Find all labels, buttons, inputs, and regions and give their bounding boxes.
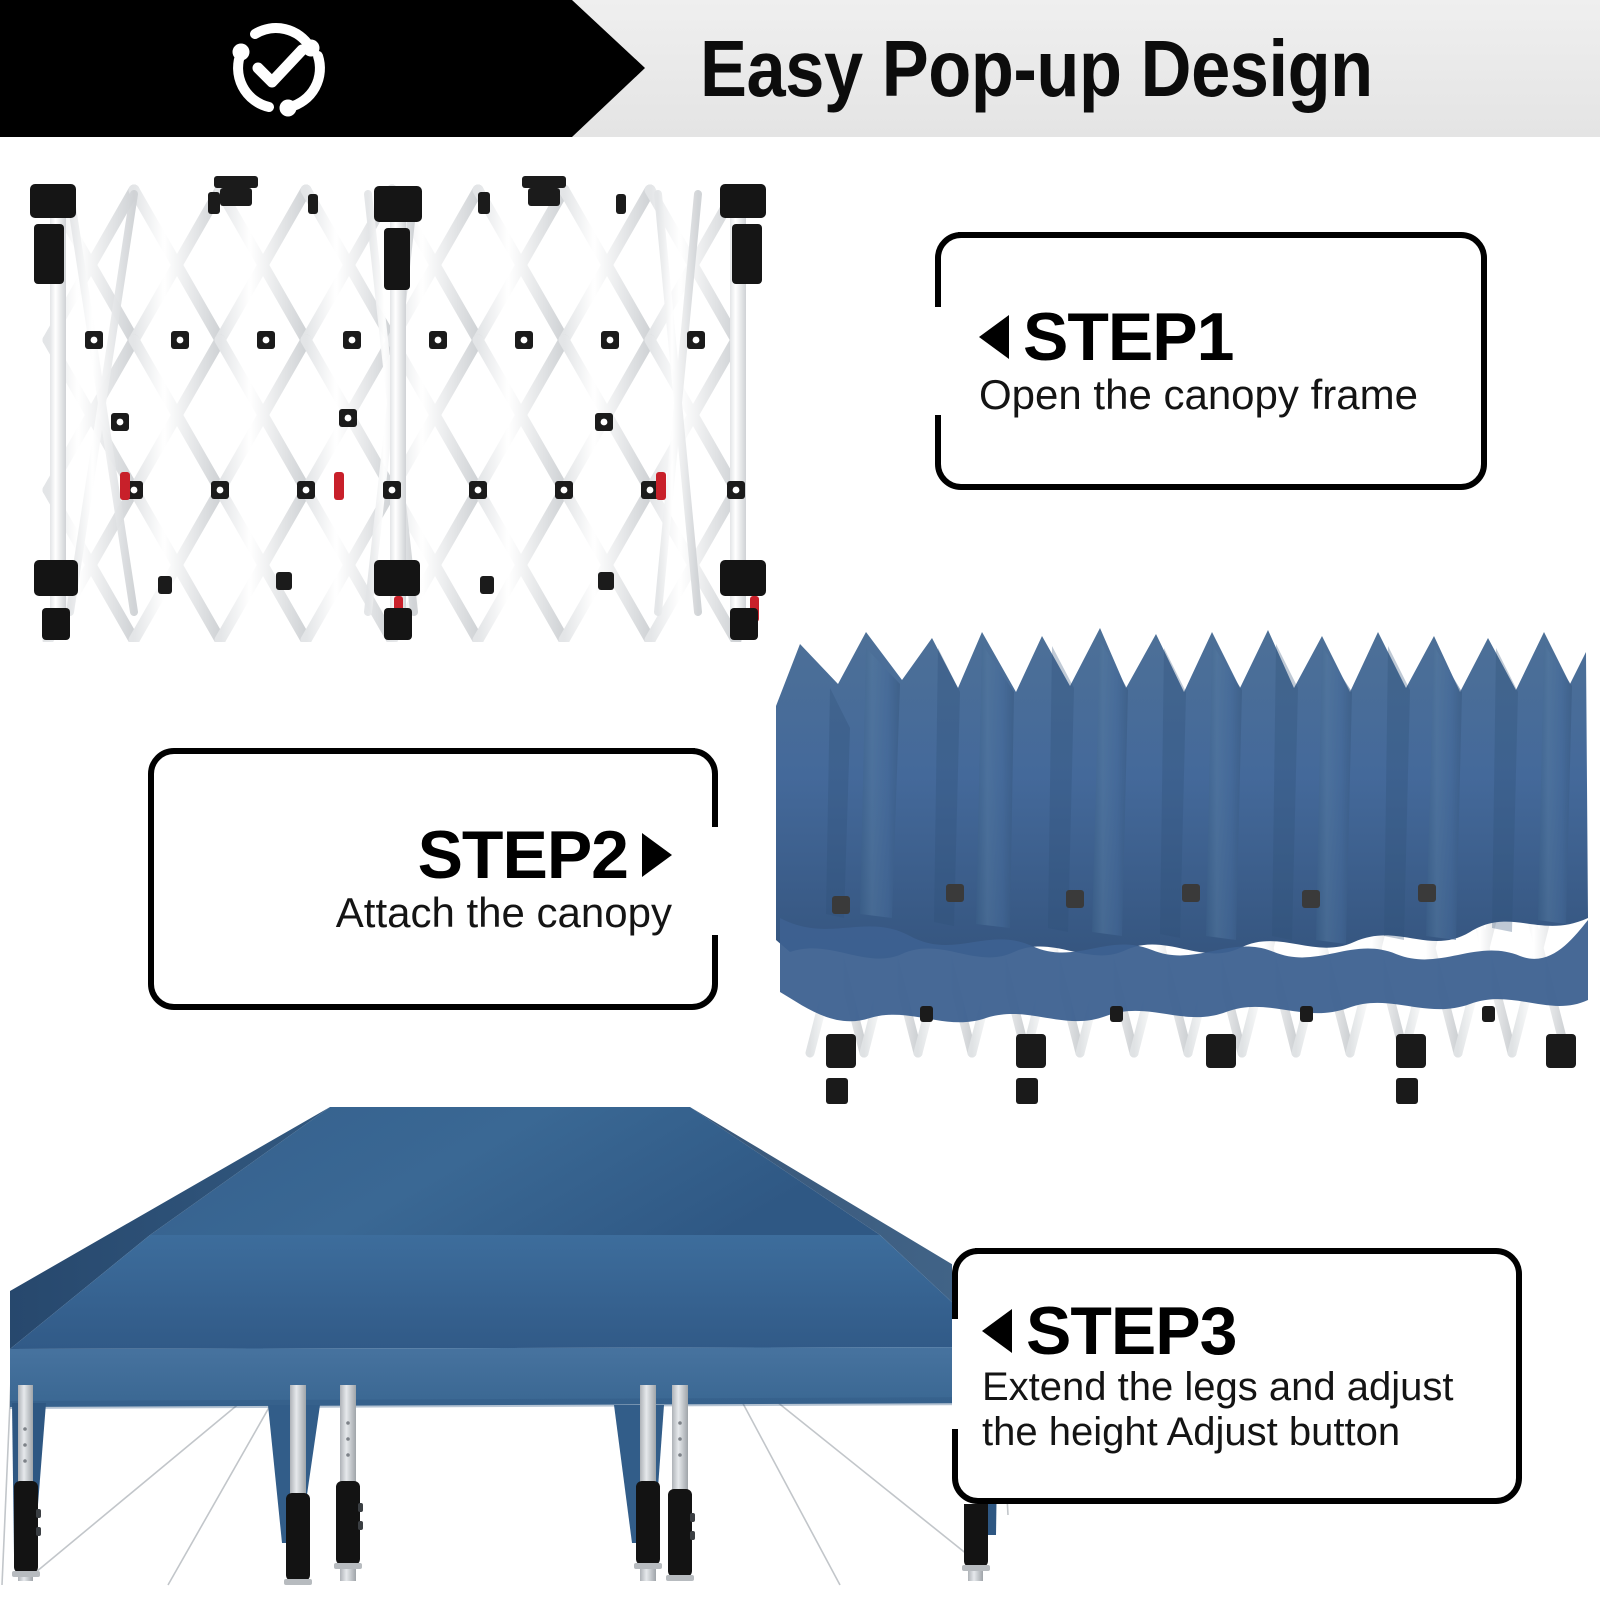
step2-title-row: STEP2: [418, 821, 672, 889]
triangle-left-icon: [979, 315, 1009, 359]
step3-title: STEP3: [1026, 1297, 1236, 1365]
step3-callout-box: STEP3 Extend the legs and adjust the hei…: [952, 1248, 1522, 1504]
step1-description: Open the canopy frame: [979, 371, 1418, 418]
step3-title-row: STEP3: [982, 1297, 1236, 1365]
header-banner: Easy Pop-up Design: [0, 0, 1600, 137]
step1-title: STEP1: [1023, 303, 1233, 371]
assembled-tent-photo: [0, 1085, 1010, 1595]
triangle-left-icon: [982, 1309, 1012, 1353]
triangle-right-icon: [642, 833, 672, 877]
check-circle-process-icon: [222, 12, 334, 124]
step2-description: Attach the canopy: [336, 889, 672, 936]
step1-title-row: STEP1: [979, 303, 1233, 371]
canopy-frame-photo: [8, 172, 798, 642]
step1-callout-box: STEP1 Open the canopy frame: [935, 232, 1487, 490]
step3-description: Extend the legs and adjust the height Ad…: [982, 1365, 1453, 1455]
step2-callout-box: STEP2 Attach the canopy: [148, 748, 718, 1010]
page-title: Easy Pop-up Design: [700, 0, 1474, 137]
canopy-draped-photo: [770, 588, 1592, 1108]
step2-title: STEP2: [418, 821, 628, 889]
